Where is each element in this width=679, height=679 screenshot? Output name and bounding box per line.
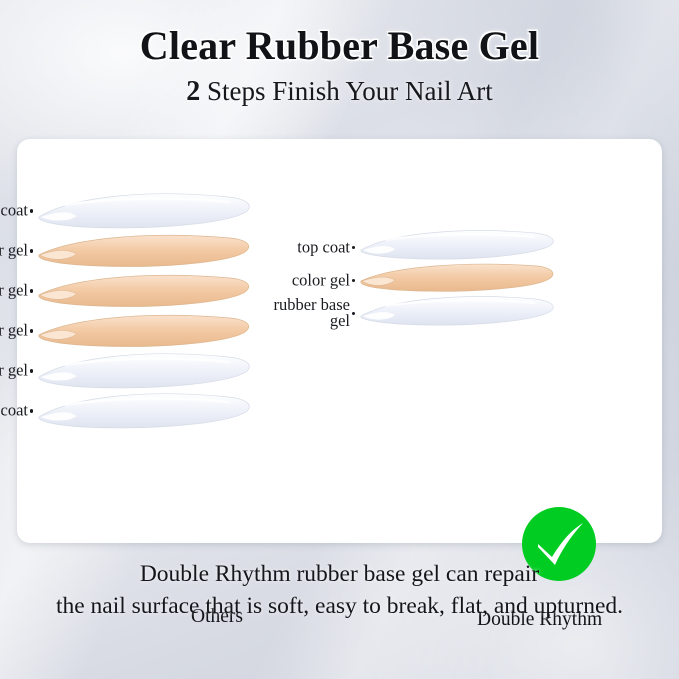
layer-row: top coat bbox=[35, 191, 365, 231]
footer-line-2: the nail surface that is soft, easy to b… bbox=[0, 590, 679, 622]
layer-label: color gel bbox=[292, 272, 350, 289]
bullet-marker-icon bbox=[30, 369, 33, 372]
bullet-marker-icon bbox=[30, 289, 33, 292]
double-rhythm-layer-stack: top coat bbox=[357, 231, 657, 330]
product-infographic: Clear Rubber Base Gel 2 Steps Finish You… bbox=[0, 0, 679, 679]
layer-label: base coat bbox=[0, 403, 28, 420]
layer-row: top coat bbox=[357, 231, 657, 264]
layer-label: color gel bbox=[0, 283, 28, 300]
nail-layer-color bbox=[35, 311, 253, 351]
layer-row: builder gel bbox=[35, 351, 365, 391]
bullet-marker-icon bbox=[30, 209, 33, 212]
bullet-marker-icon bbox=[30, 249, 33, 252]
layer-label: builder gel bbox=[0, 363, 28, 380]
nail-layer-color bbox=[35, 271, 253, 311]
layer-label: rubber base gel bbox=[255, 297, 350, 331]
nail-layer-clear bbox=[357, 294, 557, 334]
subtitle-text: Steps Finish Your Nail Art bbox=[200, 76, 493, 106]
layer-row: rubber base gel bbox=[357, 297, 657, 330]
layer-row: color gel bbox=[357, 264, 657, 297]
nail-layer-clear bbox=[35, 351, 253, 391]
comparison-card: top coat bbox=[17, 139, 662, 543]
layer-row: base coat bbox=[35, 391, 365, 431]
subtitle-step-count: 2 bbox=[186, 76, 200, 107]
header: Clear Rubber Base Gel 2 Steps Finish You… bbox=[0, 0, 679, 108]
footer-description: Double Rhythm rubber base gel can repair… bbox=[0, 558, 679, 623]
layer-label: color gel bbox=[0, 323, 28, 340]
bullet-marker-icon bbox=[30, 409, 33, 412]
layer-label: top coat bbox=[0, 203, 28, 220]
layer-label: top coat bbox=[297, 239, 350, 256]
page-title: Clear Rubber Base Gel bbox=[0, 0, 679, 69]
nail-layer-clear bbox=[35, 391, 253, 431]
nail-layer-clear bbox=[35, 191, 253, 231]
page-subtitle: 2 Steps Finish Your Nail Art bbox=[0, 69, 679, 108]
footer-line-1: Double Rhythm rubber base gel can repair bbox=[0, 558, 679, 590]
nail-layer-color bbox=[35, 231, 253, 271]
bullet-marker-icon bbox=[30, 329, 33, 332]
layer-label: color gel bbox=[0, 243, 28, 260]
